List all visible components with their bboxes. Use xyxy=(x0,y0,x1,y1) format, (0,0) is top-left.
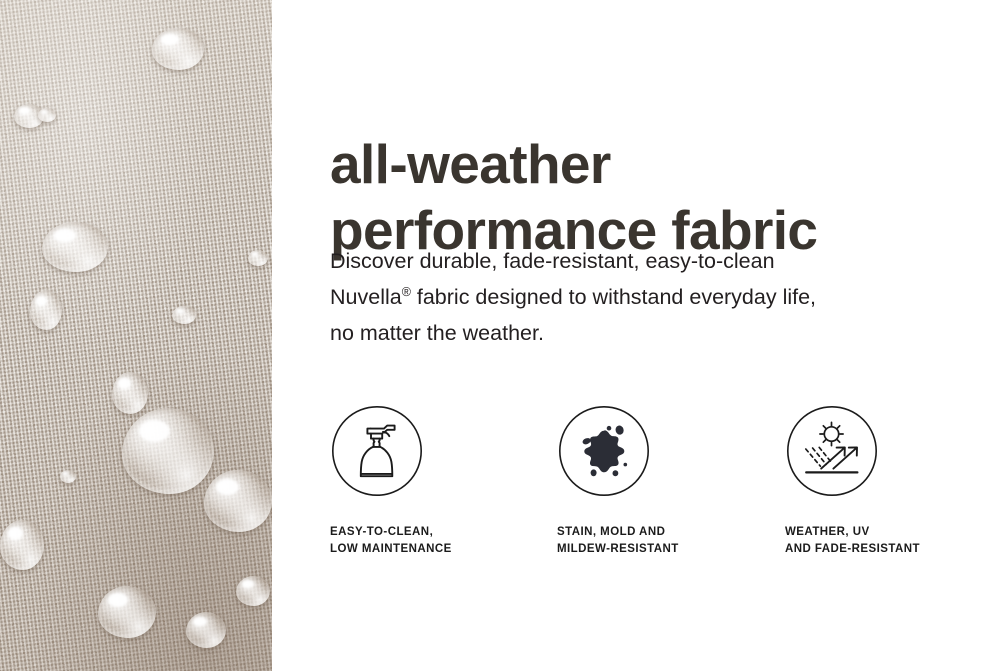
subcopy: Discover durable, fade-resistant, easy-t… xyxy=(330,243,950,351)
feature-caption: STAIN, MOLD AND MILDEW-RESISTANT xyxy=(557,524,777,558)
headline-line-1: all-weather xyxy=(330,131,990,197)
water-droplet xyxy=(0,520,44,570)
fabric-photo xyxy=(0,0,272,671)
feature-easy-to-clean: EASY-TO-CLEAN, LOW MAINTENANCE xyxy=(330,404,550,558)
water-droplet xyxy=(30,290,62,330)
stain-splat-icon xyxy=(557,404,651,498)
all-weather-fabric-banner: all-weather performance fabric Discover … xyxy=(0,0,1005,671)
brand-name: Nuvella xyxy=(330,285,402,309)
water-droplet xyxy=(98,586,156,638)
feature-weather-uv-resistant: WEATHER, UV AND FADE-RESISTANT xyxy=(785,404,1005,558)
water-droplet xyxy=(122,408,214,494)
subcopy-line-2-rest: fabric designed to withstand everyday li… xyxy=(411,285,816,309)
feature-stain-resistant: STAIN, MOLD AND MILDEW-RESISTANT xyxy=(557,404,777,558)
feature-caption-line-1: STAIN, MOLD AND xyxy=(557,524,777,541)
water-droplet xyxy=(172,306,196,324)
water-droplet xyxy=(152,28,204,70)
feature-caption-line-2: LOW MAINTENANCE xyxy=(330,541,550,558)
water-droplet xyxy=(186,612,226,648)
feature-caption-line-1: EASY-TO-CLEAN, xyxy=(330,524,550,541)
water-droplet xyxy=(60,470,76,483)
feature-caption: WEATHER, UV AND FADE-RESISTANT xyxy=(785,524,1005,558)
water-droplet xyxy=(204,470,272,532)
feature-caption: EASY-TO-CLEAN, LOW MAINTENANCE xyxy=(330,524,550,558)
water-droplet xyxy=(112,372,148,414)
feature-caption-line-2: AND FADE-RESISTANT xyxy=(785,541,1005,558)
water-droplet xyxy=(236,576,270,606)
sun-reflect-icon xyxy=(785,404,879,498)
water-droplet xyxy=(248,250,268,266)
feature-caption-line-2: MILDEW-RESISTANT xyxy=(557,541,777,558)
subcopy-line-1: Discover durable, fade-resistant, easy-t… xyxy=(330,243,950,279)
spray-bottle-icon xyxy=(330,404,424,498)
water-droplet xyxy=(42,222,108,272)
registered-trademark-icon: ® xyxy=(402,285,411,299)
subcopy-line-2: Nuvella® fabric designed to withstand ev… xyxy=(330,279,950,315)
feature-caption-line-1: WEATHER, UV xyxy=(785,524,1005,541)
content-column: all-weather performance fabric Discover … xyxy=(330,0,990,671)
water-droplet xyxy=(38,108,56,122)
fabric-lighting-overlay xyxy=(0,0,272,671)
subcopy-line-3: no matter the weather. xyxy=(330,315,950,351)
